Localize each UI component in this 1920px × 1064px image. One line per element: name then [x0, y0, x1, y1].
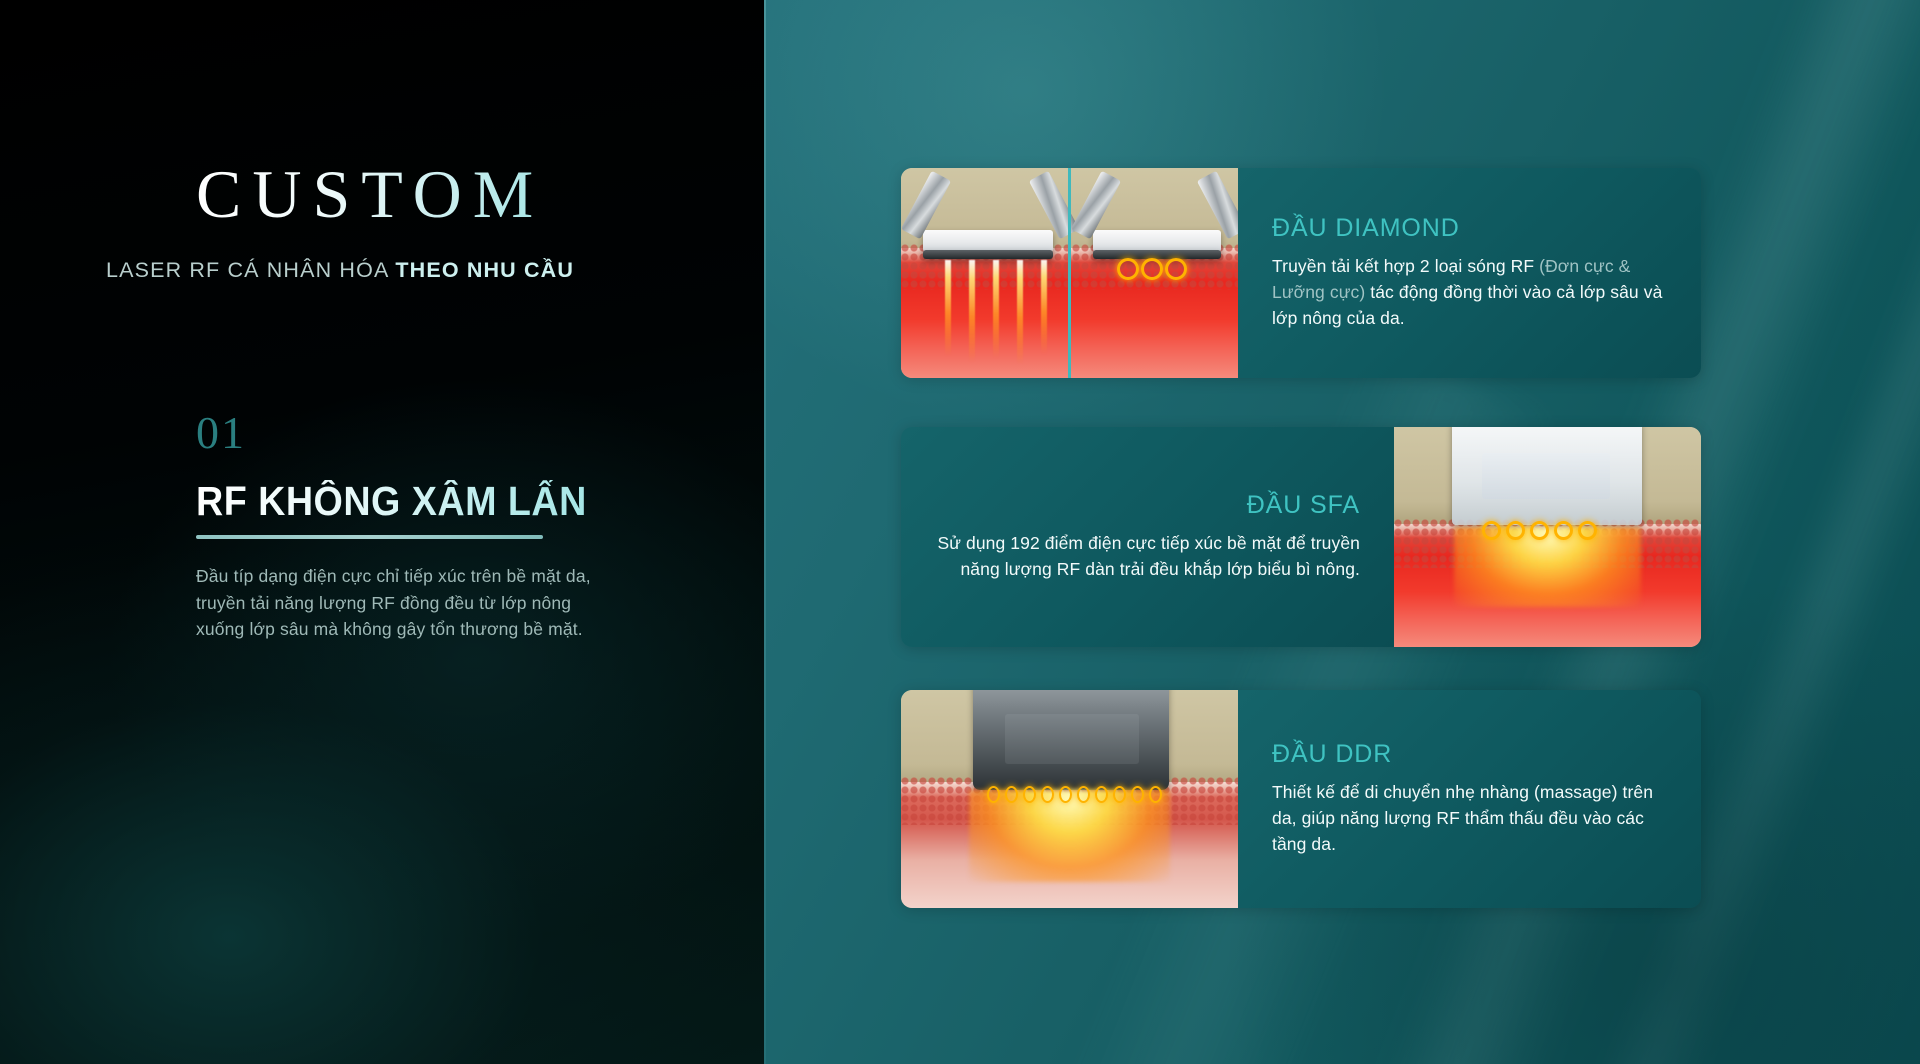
section-body-text: Đầu típ dạng điện cực chỉ tiếp xúc trên … — [196, 563, 601, 643]
card-diamond[interactable]: ĐẦU DIAMOND Truyền tải kết hợp 2 loại só… — [901, 168, 1701, 378]
heading-underline — [196, 535, 543, 539]
card-sfa-illustration — [1394, 427, 1701, 647]
card-ddr-text: ĐẦU DDR Thiết kế để di chuyển nhẹ nhàng … — [1238, 690, 1701, 908]
card-diamond-heading: ĐẦU DIAMOND — [1272, 214, 1667, 243]
card-diamond-text: ĐẦU DIAMOND Truyền tải kết hợp 2 loại só… — [1238, 168, 1701, 378]
step-number: 01 — [196, 410, 246, 456]
card-sfa[interactable]: ĐẦU SFA Sử dụng 192 điểm điện cực tiếp x… — [901, 427, 1701, 647]
subtitle-bold-text: THEO NHU CẦU — [395, 258, 574, 282]
card-diamond-illustration — [901, 168, 1238, 378]
card-ddr[interactable]: ĐẦU DDR Thiết kế để di chuyển nhẹ nhàng … — [901, 690, 1701, 908]
card-ddr-heading: ĐẦU DDR — [1272, 740, 1667, 769]
card-diamond-body-part1: Truyền tải kết hợp 2 loại sóng RF — [1272, 256, 1539, 276]
card-sfa-text: ĐẦU SFA Sử dụng 192 điểm điện cực tiếp x… — [901, 427, 1394, 647]
slide-canvas: CUSTOM LASER RF CÁ NHÂN HÓA THEO NHU CẦU… — [0, 0, 1920, 1064]
page-subtitle: LASER RF CÁ NHÂN HÓA THEO NHU CẦU — [106, 258, 706, 283]
section-heading: RF KHÔNG XÂM LẤN — [196, 480, 587, 523]
card-ddr-illustration — [901, 690, 1238, 908]
left-content-panel: CUSTOM LASER RF CÁ NHÂN HÓA THEO NHU CẦU… — [0, 0, 764, 1064]
card-sfa-body: Sử dụng 192 điểm điện cực tiếp xúc bề mặ… — [935, 531, 1360, 583]
card-sfa-heading: ĐẦU SFA — [1247, 491, 1360, 520]
subtitle-regular-text: LASER RF CÁ NHÂN HÓA — [106, 258, 395, 282]
page-title: CUSTOM — [196, 160, 616, 228]
panel-divider — [764, 0, 766, 1064]
card-diamond-body: Truyền tải kết hợp 2 loại sóng RF (Đơn c… — [1272, 254, 1667, 332]
card-ddr-body: Thiết kế để di chuyển nhẹ nhàng (massage… — [1272, 780, 1667, 858]
